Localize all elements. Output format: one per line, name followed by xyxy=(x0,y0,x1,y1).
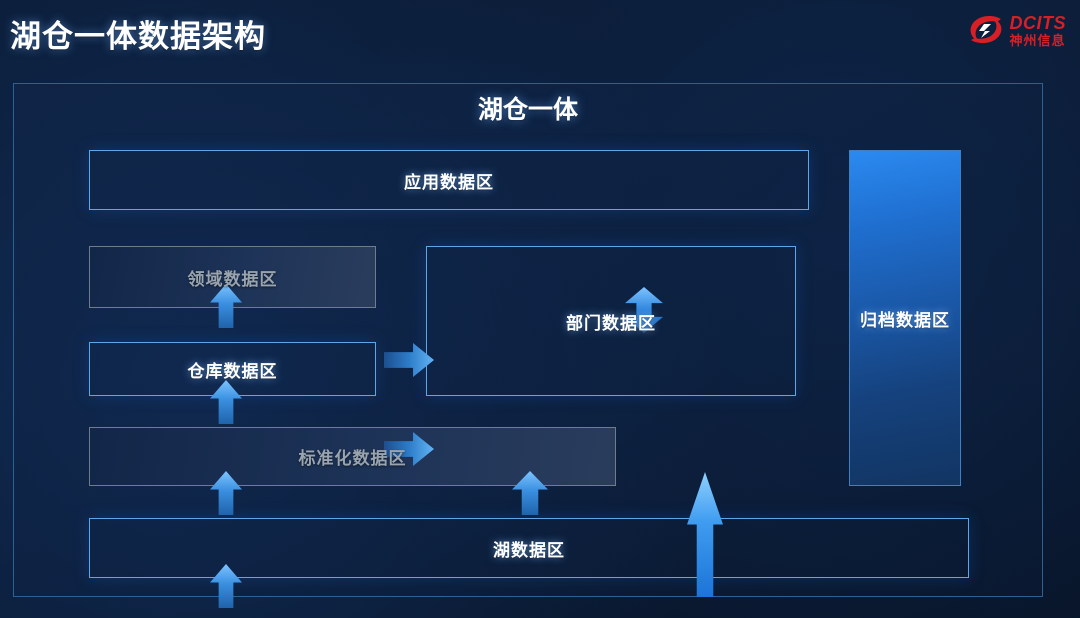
zone-label: 归档数据区 xyxy=(860,306,950,331)
zone-label: 领域数据区 xyxy=(188,265,278,290)
zone-archive-data[interactable]: 归档数据区 xyxy=(849,150,961,486)
zone-lake-data[interactable]: 湖数据区 xyxy=(89,518,969,578)
page-title: 湖仓一体数据架构 xyxy=(10,11,266,56)
zone-standardized-data[interactable]: 标准化数据区 xyxy=(89,427,616,486)
zone-label: 部门数据区 xyxy=(566,309,656,334)
logo-text-cn: 神州信息 xyxy=(1010,34,1067,47)
zone-application-data[interactable]: 应用数据区 xyxy=(89,150,809,210)
zone-label: 湖数据区 xyxy=(493,536,565,561)
zone-label: 应用数据区 xyxy=(404,168,494,193)
logo-wordmark: DCITS 神州信息 xyxy=(1010,14,1067,47)
dcits-swirl-icon xyxy=(967,13,1005,47)
slide-header: 湖仓一体数据架构 DCITS 神州信息 xyxy=(0,0,1080,80)
company-logo: DCITS 神州信息 xyxy=(967,8,1067,52)
zone-label: 仓库数据区 xyxy=(188,357,278,382)
logo-text-en: DCITS xyxy=(1010,14,1067,32)
panel-title: 湖仓一体 xyxy=(14,90,1042,126)
zone-department-data[interactable]: 部门数据区 xyxy=(426,246,796,396)
zone-label: 标准化数据区 xyxy=(299,444,407,469)
architecture-panel: 湖仓一体 应用数据区 领域数据区 仓库数据区 标准化数据区 湖数据区 部门数据区… xyxy=(13,83,1043,597)
